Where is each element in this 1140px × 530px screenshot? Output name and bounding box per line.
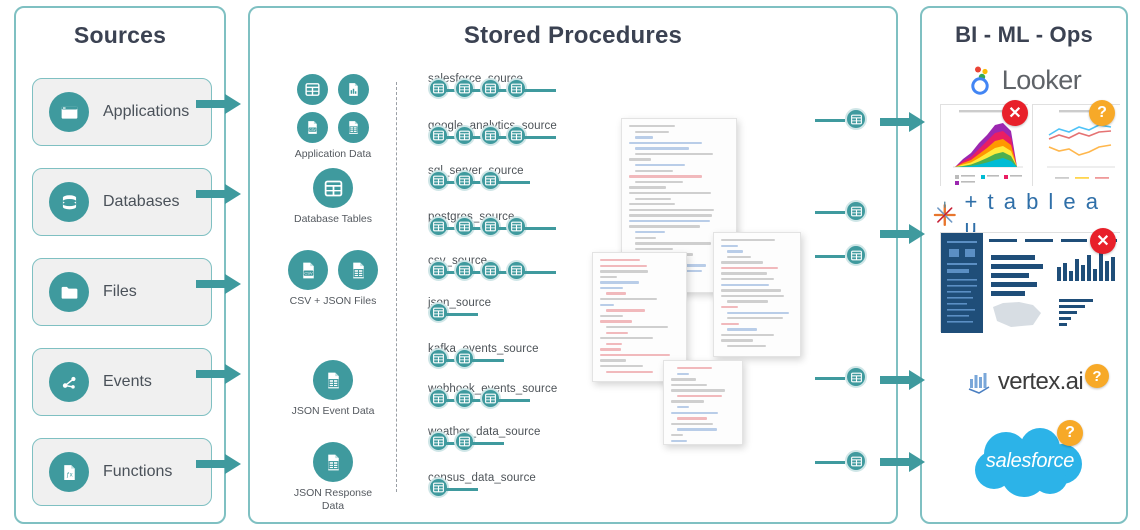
table-document-icon: [348, 260, 369, 281]
node-connector: [815, 211, 845, 214]
code-line: [635, 164, 685, 166]
table-icon: [850, 371, 863, 384]
code-line: [677, 395, 722, 397]
csv-document-icon: CSV: [297, 112, 328, 143]
code-line: [635, 131, 669, 133]
tableau-mark-icon: [930, 200, 960, 230]
code-line: [600, 315, 623, 317]
code-line: [629, 186, 666, 188]
chart-document-icon: [345, 81, 362, 98]
looker-label: Looker: [1002, 65, 1082, 96]
node-connector: [815, 377, 845, 380]
code-line: [721, 239, 775, 241]
node-connector: [815, 119, 845, 122]
looker-mark-icon: [969, 65, 997, 95]
mid-icon-group-4: JSON Response Data: [278, 442, 388, 512]
code-line: [629, 125, 675, 127]
mid-icon-group-caption: JSON Response Data: [278, 487, 388, 512]
table-icon[interactable]: [845, 108, 867, 130]
csv-document-icon: CSV: [288, 250, 328, 290]
code-line: [721, 272, 767, 274]
code-line: [671, 412, 718, 414]
code-line: [635, 248, 673, 250]
mid-icon-group-caption: CSV + JSON Files: [278, 295, 388, 308]
table-icon: [850, 455, 863, 468]
code-line: [727, 345, 766, 347]
mid-icon-group-1: Database Tables: [278, 168, 388, 226]
code-line: [635, 198, 671, 200]
mid-icon-group-caption: Application Data: [278, 148, 388, 161]
sql-code-card: [713, 232, 801, 357]
code-line: [600, 304, 614, 306]
bi-flow-arrow-1: [880, 110, 926, 134]
bi-flow-arrow-4: [880, 450, 926, 474]
source-flow-arrow-2: [196, 182, 242, 206]
code-line: [600, 287, 623, 289]
code-line: [721, 278, 774, 280]
tableau-logo-icon: + t a b l e a u: [930, 198, 1120, 232]
section-divider: [396, 82, 397, 492]
code-line: [727, 250, 743, 252]
table-document-icon: [313, 360, 353, 400]
code-line: [635, 181, 683, 183]
source-flow-arrow-5: [196, 452, 242, 476]
mid-icon-group-0: CSVApplication Data: [278, 74, 388, 161]
code-line: [635, 153, 713, 155]
code-line: [677, 367, 712, 369]
table-icon: [850, 113, 863, 126]
table-document-icon: [338, 250, 378, 290]
code-line: [600, 259, 640, 261]
code-line: [635, 147, 689, 149]
code-line: [600, 365, 643, 367]
code-line: [600, 265, 647, 267]
salesforce-warning-badge[interactable]: ?: [1057, 420, 1083, 446]
bi-flow-arrow-2: [880, 222, 926, 246]
code-line: [629, 209, 714, 211]
table-icon: [304, 81, 321, 98]
code-line: [629, 142, 702, 144]
code-line: [629, 203, 675, 205]
code-line: [629, 214, 712, 216]
svg-text:CSV: CSV: [304, 270, 313, 275]
code-line: [600, 298, 657, 300]
node-connector: [470, 359, 504, 362]
code-line: [606, 332, 628, 334]
code-line: [677, 428, 717, 430]
code-line: [600, 281, 639, 283]
code-line: [600, 354, 670, 356]
node-connector: [522, 136, 556, 139]
code-line: [600, 270, 648, 272]
code-line: [635, 237, 656, 239]
code-line: [635, 242, 711, 244]
code-line: [677, 417, 707, 419]
vertex-ai-warning-badge[interactable]: ?: [1085, 364, 1109, 388]
table-icon: [850, 205, 863, 218]
looker-error-badge[interactable]: ✕: [1002, 100, 1028, 126]
node-connector: [815, 461, 845, 464]
code-line: [721, 323, 739, 325]
csv-document-icon: CSV: [298, 260, 319, 281]
table-icon: [850, 249, 863, 262]
code-line: [671, 423, 713, 425]
node-connector: [815, 255, 845, 258]
code-line: [629, 158, 651, 160]
table-icon: [323, 178, 344, 199]
code-line: [606, 343, 622, 345]
code-line: [721, 261, 763, 263]
code-line: [629, 175, 702, 177]
tableau-error-badge[interactable]: ✕: [1090, 228, 1116, 254]
code-line: [600, 320, 632, 322]
sql-code-card: [663, 360, 743, 445]
salesforce-label: salesforce: [966, 450, 1094, 473]
code-line: [727, 312, 789, 314]
code-line: [677, 373, 689, 375]
code-line: [671, 400, 704, 402]
node-connector: [496, 181, 530, 184]
table-icon: [297, 74, 328, 105]
chart-document-icon: [338, 74, 369, 105]
mid-icon-group-caption: JSON Event Data: [278, 405, 388, 418]
code-line: [635, 136, 653, 138]
table-document-icon: [323, 452, 344, 473]
code-line: [721, 289, 781, 291]
code-line: [600, 276, 617, 278]
code-line: [721, 306, 738, 308]
code-line: [606, 292, 626, 294]
svg-text:CSV: CSV: [309, 128, 317, 132]
code-line: [606, 309, 645, 311]
code-line: [671, 389, 725, 391]
code-line: [721, 267, 778, 269]
code-line: [677, 406, 689, 408]
table-icon[interactable]: [845, 450, 867, 472]
code-line: [721, 339, 753, 341]
code-line: [606, 326, 668, 328]
node-connector: [444, 313, 478, 316]
code-line: [606, 371, 653, 373]
vertex-ai-label: vertex.ai: [998, 368, 1083, 396]
table-document-icon: [345, 119, 362, 136]
code-line: [721, 334, 774, 336]
code-line: [727, 317, 783, 319]
code-line: [727, 328, 757, 330]
code-line: [727, 300, 768, 302]
table-icon[interactable]: [845, 366, 867, 388]
csv-document-icon: CSV: [304, 119, 321, 136]
code-line: [671, 440, 687, 442]
looker-logo-icon: Looker: [930, 60, 1120, 100]
code-line: [635, 170, 673, 172]
code-line: [721, 245, 738, 247]
node-connector: [522, 271, 556, 274]
node-connector: [522, 227, 556, 230]
code-line: [721, 295, 784, 297]
table-document-icon: [323, 370, 344, 391]
table-icon[interactable]: [845, 200, 867, 222]
diagram-canvas: Sources ApplicationsDatabasesFilesEvents…: [0, 0, 1140, 530]
source-flow-arrow-4: [196, 362, 242, 386]
table-document-icon: [313, 442, 353, 482]
code-line: [721, 284, 769, 286]
looker-warning-badge[interactable]: ?: [1089, 100, 1115, 126]
vertex-mark-icon: [967, 369, 993, 395]
code-line: [671, 384, 707, 386]
code-line: [600, 337, 653, 339]
code-line: [600, 359, 626, 361]
source-flow-arrow-1: [196, 92, 242, 116]
mid-icon-group-caption: Database Tables: [278, 213, 388, 226]
code-line: [629, 225, 700, 227]
node-connector: [496, 399, 530, 402]
code-line: [671, 378, 696, 380]
code-line: [635, 231, 665, 233]
bi-flow-arrow-3: [880, 368, 926, 392]
source-flow-arrow-3: [196, 272, 242, 296]
table-icon: [313, 168, 353, 208]
table-document-icon: [338, 112, 369, 143]
code-line: [727, 256, 751, 258]
code-line: [600, 348, 621, 350]
code-line: [671, 434, 683, 436]
node-connector: [470, 442, 504, 445]
code-line: [629, 192, 711, 194]
mid-icon-group-2: CSVCSV + JSON Files: [278, 250, 388, 308]
mid-icon-group-3: JSON Event Data: [278, 360, 388, 418]
node-connector: [444, 488, 478, 491]
node-connector: [522, 89, 556, 92]
code-line: [629, 220, 710, 222]
table-icon[interactable]: [845, 244, 867, 266]
